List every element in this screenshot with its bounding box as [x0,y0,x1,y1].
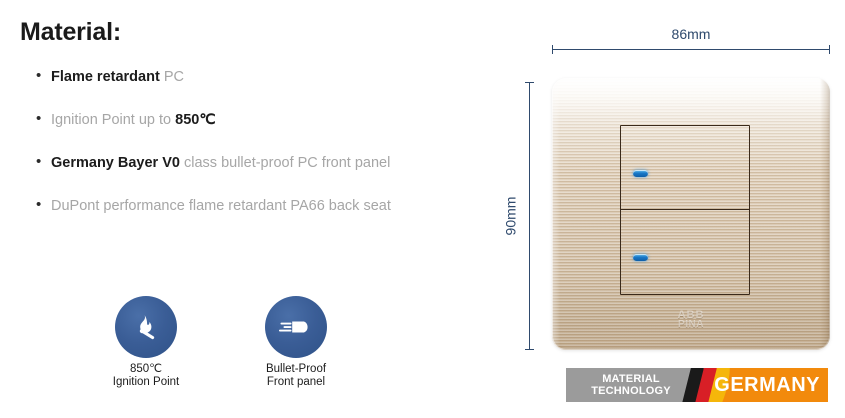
rocker-switch-group[interactable] [620,125,750,295]
rocker-switch-top[interactable] [621,126,749,210]
height-dimension: 90mm [498,82,534,350]
width-dimension-line [552,45,830,54]
spec-muted-text: class bullet-proof PC front panel [184,155,390,171]
badge-label: 850℃ Ignition Point [100,363,192,389]
product-image-switch-panel: ABB PINA [552,78,830,350]
list-item: Ignition Point up to 850℃ [34,111,494,129]
switch-faceplate: ABB PINA [552,78,830,350]
feature-badges: 850℃ Ignition Point Bullet-Proof Front p… [100,296,342,389]
badge-label-line2: Ignition Point [100,376,192,389]
badge-circle [265,296,327,358]
brand-logo: ABB PINA [552,310,830,330]
badge-label-line1: Bullet-Proof [266,363,326,375]
badge-label: Bullet-Proof Front panel [250,363,342,389]
material-info-pane: Material: Flame retardant PC Ignition Po… [0,0,500,418]
page-title: Material: [20,18,121,47]
spec-strong-text: Flame retardant [51,69,164,85]
flame-match-icon [129,310,163,344]
height-dimension-label: 90mm [502,197,518,236]
width-dimension-label: 86mm [552,26,830,42]
list-item: Germany Bayer V0 class bullet-proof PC f… [34,154,494,172]
bullet-icon [278,314,314,340]
badge-label-line1: 850℃ [130,363,162,375]
led-indicator-icon [633,170,648,177]
dimension-tick-left [552,45,553,54]
banner-orange-section: GERMANY [706,368,828,402]
spec-list: Flame retardant PC Ignition Point up to … [34,68,494,240]
spec-muted-text: PC [164,69,184,85]
badge-circle [115,296,177,358]
spec-strong-text: Germany Bayer V0 [51,155,184,171]
banner-line1: MATERIAL [602,373,660,385]
badge-label-line2: Front panel [250,376,342,389]
spec-strong-text: 850℃ [175,112,215,128]
banner-country-label: GERMANY [714,374,820,397]
dimension-tick-bottom [525,349,534,350]
material-technology-banner: MATERIAL TECHNOLOGY GERMANY [566,368,828,402]
spec-muted-text: DuPont performance flame retardant PA66 … [51,198,391,214]
rocker-switch-bottom[interactable] [621,210,749,294]
badge-bullet-proof: Bullet-Proof Front panel [250,296,342,389]
led-indicator-icon [633,254,648,261]
dimension-tick-top [525,82,534,83]
spec-muted-text: Ignition Point up to [51,112,175,128]
banner-line2: TECHNOLOGY [591,385,671,397]
list-item: DuPont performance flame retardant PA66 … [34,197,494,215]
height-dimension-line [525,82,534,350]
width-dimension: 86mm [552,26,830,54]
badge-ignition-point: 850℃ Ignition Point [100,296,192,389]
dimension-tick-right [829,45,830,54]
list-item: Flame retardant PC [34,68,494,86]
brand-logo-line2: PINA [552,320,830,330]
